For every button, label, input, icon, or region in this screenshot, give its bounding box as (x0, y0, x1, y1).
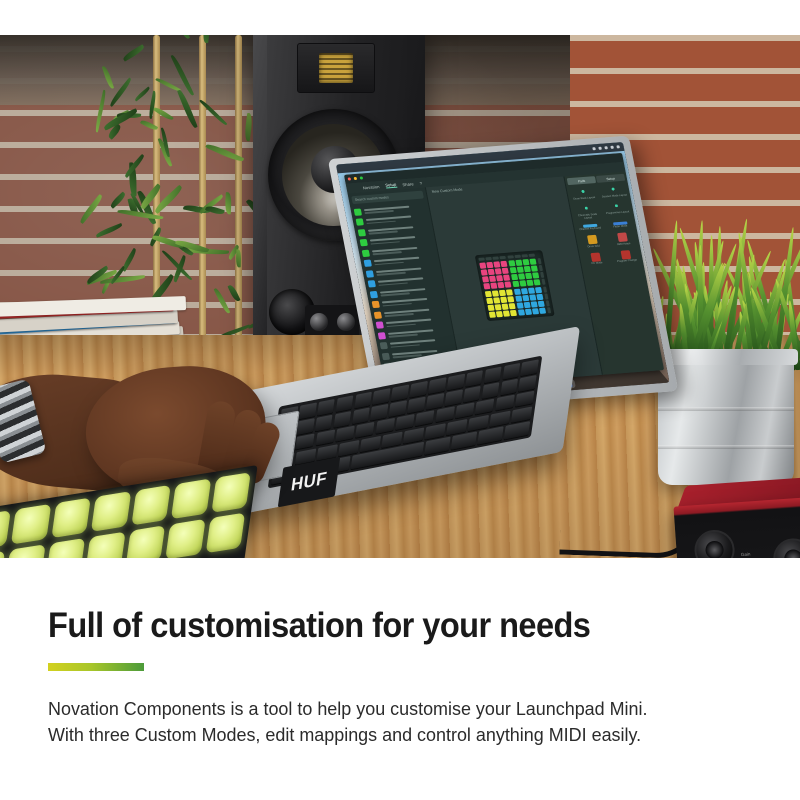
mode-option-label: Fader Mode (613, 226, 628, 230)
pad-cell-r7-c1[interactable] (496, 311, 503, 317)
pad-top-button-6[interactable] (521, 254, 528, 258)
mode-option-7[interactable]: MIDI Notes (608, 232, 638, 247)
mode-color-swatch (376, 322, 384, 329)
keyboard-key[interactable] (338, 440, 359, 457)
keyboard-key[interactable] (521, 359, 539, 375)
pad-cell-r3-c2[interactable] (498, 282, 505, 288)
pad-top-button-5[interactable] (514, 255, 521, 259)
pad-cell-r6-c7[interactable] (538, 301, 545, 307)
pad-cell-r4-c5[interactable] (521, 288, 528, 294)
keyboard-key[interactable] (395, 414, 415, 431)
mode-option-icon (581, 204, 592, 214)
pad-side-button-3[interactable] (541, 279, 546, 285)
mode-option-1[interactable]: Session Mode Layout (599, 184, 629, 199)
launchpad-mini-pad[interactable] (0, 510, 11, 551)
pad-cell-r1-c7[interactable] (531, 265, 538, 271)
pad-cell-r3-c5[interactable] (519, 281, 526, 287)
keyboard-key[interactable] (484, 366, 502, 382)
bamboo-leaf (109, 192, 127, 209)
pad-cell-r6-c2[interactable] (502, 303, 509, 309)
launchpad-mini-pad[interactable] (46, 538, 86, 558)
keyboard-key[interactable] (425, 423, 446, 440)
bamboo-leaf (95, 223, 122, 237)
mode-option-9[interactable]: Program Change (611, 249, 641, 264)
keyboard-key[interactable] (315, 414, 333, 430)
bamboo-leaf (102, 65, 115, 89)
mode-option-4[interactable]: Channel Keyboard (576, 223, 605, 232)
keyboard-key[interactable] (446, 419, 467, 436)
bamboo-leaf (178, 88, 198, 128)
pad-cell-r7-c3[interactable] (510, 310, 517, 316)
pad-cell-r1-c1[interactable] (488, 269, 495, 275)
pad-cell-r5-c7[interactable] (536, 294, 543, 300)
pad-top-button-4[interactable] (507, 255, 514, 259)
pad-cell-r0-c5[interactable] (515, 259, 522, 265)
mode-option-icon (590, 252, 601, 262)
mode-option-icon (621, 250, 632, 260)
mode-color-swatch (380, 342, 388, 349)
keyboard-key[interactable] (515, 390, 535, 407)
keyboard-key[interactable] (410, 381, 428, 397)
keyboard-key[interactable] (370, 404, 388, 420)
pad-cell-r2-c5[interactable] (518, 274, 525, 280)
pad-cell-r3-c3[interactable] (505, 282, 512, 288)
mode-option-icon (608, 184, 619, 194)
keyboard-key[interactable] (463, 386, 481, 402)
product-photo: Novation Setup Share ? Search custom mod… (0, 35, 800, 558)
nav-item-share[interactable]: Share (402, 181, 414, 187)
pad-cell-r1-c6[interactable] (524, 266, 531, 272)
pad-top-button-1[interactable] (485, 257, 492, 261)
keyboard-key[interactable] (519, 375, 537, 391)
keyboard-key[interactable] (315, 429, 335, 446)
feature-text-block: Full of customisation for your needs Nov… (0, 558, 800, 748)
pad-cell-r1-c0[interactable] (480, 269, 487, 275)
pad-cell-r6-c5[interactable] (523, 302, 530, 308)
mode-option-label: Session Mode Layout (602, 194, 628, 199)
pad-cell-r5-c5[interactable] (522, 295, 529, 301)
keyboard-key[interactable] (489, 410, 510, 427)
mode-option-icon (578, 187, 589, 197)
mode-option-icon (617, 233, 628, 243)
accent-divider-bar (48, 663, 144, 671)
nav-item-novation[interactable]: Novation (362, 184, 380, 190)
metal-plant-pot (658, 353, 794, 485)
pad-cell-r6-c4[interactable] (516, 302, 523, 308)
mode-option-3[interactable]: Programmer Layout (602, 201, 632, 219)
mode-color-swatch (356, 219, 364, 226)
keyboard-key[interactable] (502, 363, 520, 379)
mode-color-swatch (368, 280, 376, 287)
pad-cell-r5-c6[interactable] (529, 294, 536, 300)
gain-label: Gain (741, 551, 751, 557)
window-minimize-dot[interactable] (354, 177, 358, 180)
pad-cell-r4-c6[interactable] (528, 287, 535, 293)
pad-cell-r6-c3[interactable] (509, 303, 516, 309)
pad-side-button-1[interactable] (539, 265, 544, 271)
pad-cell-r3-c0[interactable] (483, 283, 490, 289)
keyboard-key[interactable] (465, 370, 483, 386)
pad-cell-r7-c5[interactable] (525, 309, 532, 315)
pad-cell-r2-c2[interactable] (496, 275, 503, 281)
bamboo-leaf (170, 54, 194, 97)
keyboard-key[interactable] (435, 406, 455, 423)
pad-grid-8x8[interactable] (479, 258, 546, 318)
pad-cell-r6-c0[interactable] (487, 305, 494, 311)
bamboo-leaf (178, 35, 190, 40)
bamboo-leaf (122, 44, 145, 61)
product-feature-card: Novation Setup Share ? Search custom mod… (0, 0, 800, 800)
tab-setup[interactable]: Setup (596, 174, 625, 183)
launchpad-mini-pad[interactable] (131, 485, 171, 526)
launchpad-mini-pad[interactable] (211, 472, 251, 513)
feature-description: Novation Components is a tool to help yo… (48, 696, 688, 748)
bamboo-leaf (103, 108, 140, 131)
pad-side-button-0[interactable] (537, 258, 542, 264)
keyboard-key[interactable] (298, 403, 316, 419)
xlr-input-2[interactable] (772, 537, 800, 558)
mode-option-label: MIDI Notes (617, 243, 631, 247)
keyboard-key[interactable] (428, 377, 446, 393)
window-close-dot[interactable] (348, 177, 352, 180)
pad-side-button-7[interactable] (547, 307, 552, 313)
pad-cell-r5-c2[interactable] (500, 296, 507, 302)
bamboo-leaf (243, 113, 253, 142)
mode-option-grid[interactable]: Drum Rack LayoutSession Mode LayoutChrom… (569, 184, 642, 267)
pad-cell-r5-c1[interactable] (493, 297, 500, 303)
launchpad-mini-pad[interactable] (91, 491, 131, 532)
keyboard-key[interactable] (375, 418, 395, 435)
keyboard-key[interactable] (447, 374, 465, 390)
keyboard-key[interactable] (389, 400, 407, 416)
mode-color-swatch (382, 353, 390, 360)
keyboard-key[interactable] (295, 433, 315, 450)
keyboard-key[interactable] (500, 378, 518, 394)
launchpad-mini-pad[interactable] (85, 532, 125, 558)
mode-color-swatch (374, 311, 382, 318)
keyboard-key[interactable] (511, 406, 532, 423)
keyboard-key[interactable] (444, 389, 462, 405)
pad-cell-r0-c4[interactable] (508, 260, 515, 266)
mode-color-swatch (366, 270, 374, 277)
keyboard-key[interactable] (455, 402, 475, 419)
page-title: Full of customisation for your needs (48, 606, 747, 646)
pad-cell-r2-c3[interactable] (503, 275, 510, 281)
keyboard-key[interactable] (335, 395, 353, 411)
pad-cell-r0-c2[interactable] (493, 261, 500, 267)
mode-option-5[interactable]: Fader Mode (606, 221, 635, 230)
keyboard-key[interactable] (391, 384, 409, 400)
pad-cell-r7-c4[interactable] (518, 309, 525, 315)
pad-cell-r1-c2[interactable] (495, 268, 502, 274)
keyboard-key[interactable] (415, 410, 435, 427)
mode-option-label: Drum Rack Layout (573, 197, 595, 202)
keyboard-key[interactable] (354, 392, 372, 408)
pad-cell-r4-c4[interactable] (513, 288, 520, 294)
launchpad-mini-pad[interactable] (0, 550, 6, 558)
mode-option-label: Drum Grid (588, 245, 601, 249)
keyboard-key[interactable] (296, 418, 314, 434)
pad-cell-r2-c4[interactable] (511, 274, 518, 280)
pad-side-button-6[interactable] (545, 300, 550, 306)
keyboard-key[interactable] (355, 421, 375, 438)
pad-cell-r3-c7[interactable] (534, 279, 541, 285)
tab-pads[interactable]: Pads (567, 176, 596, 185)
mode-option-icon (587, 235, 598, 245)
keyboard-key[interactable] (381, 431, 402, 448)
pad-top-button-2[interactable] (493, 256, 500, 260)
keyboard-key[interactable] (424, 437, 450, 455)
pad-side-button-2[interactable] (540, 272, 545, 278)
keyboard-key[interactable] (495, 394, 515, 411)
keyboard-key[interactable] (352, 407, 370, 423)
mode-option-8[interactable]: CC Mode (581, 252, 611, 267)
launchpad-mini-pad[interactable] (165, 519, 205, 558)
mode-option-2[interactable]: Chromatic Scale Layout (572, 203, 602, 221)
keyboard-key[interactable] (407, 396, 425, 412)
pad-top-button-0[interactable] (478, 257, 485, 261)
mode-option-0[interactable]: Drum Rack Layout (569, 186, 599, 201)
pad-cell-r2-c0[interactable] (482, 276, 489, 282)
pad-cell-r2-c6[interactable] (525, 273, 532, 279)
mode-color-swatch (360, 239, 368, 246)
nav-item-setup[interactable]: Setup (385, 182, 397, 189)
pad-cell-r4-c0[interactable] (485, 291, 492, 297)
bamboo-leaf (133, 87, 150, 102)
pad-cell-r3-c4[interactable] (512, 281, 519, 287)
keyboard-key[interactable] (451, 432, 477, 450)
mode-color-swatch (362, 249, 370, 256)
mode-option-label: Channel Keyboard (579, 228, 601, 233)
launchpad-mini-pad[interactable] (51, 497, 91, 538)
mode-color-swatch (354, 208, 362, 215)
pad-cell-r4-c7[interactable] (535, 287, 542, 293)
launchpad-mini-pad[interactable] (125, 525, 165, 558)
pad-cell-r0-c1[interactable] (486, 262, 493, 268)
mode-color-swatch (372, 301, 380, 308)
mode-option-label: Chromatic Scale Layout (574, 213, 602, 221)
mode-option-label: Program Change (617, 260, 637, 264)
pad-cell-r7-c2[interactable] (503, 311, 510, 317)
pad-cell-r0-c6[interactable] (522, 259, 529, 265)
mode-option-label: Programmer Layout (606, 211, 630, 216)
pad-cell-r5-c0[interactable] (486, 298, 493, 304)
pad-cell-r4-c1[interactable] (492, 290, 499, 296)
pad-side-button-5[interactable] (544, 293, 549, 299)
pad-cell-r0-c0[interactable] (479, 262, 486, 268)
mode-color-swatch (370, 291, 378, 298)
launchpad-mini-pad[interactable] (205, 513, 245, 554)
pad-cell-r3-c1[interactable] (490, 283, 497, 289)
pad-cell-r6-c1[interactable] (495, 304, 502, 310)
pad-cell-r0-c3[interactable] (501, 261, 508, 267)
mode-color-swatch (378, 332, 386, 339)
keyboard-key[interactable] (333, 411, 351, 427)
pad-top-button-7[interactable] (529, 253, 536, 257)
pad-cell-r5-c3[interactable] (508, 296, 515, 302)
pad-cell-r7-c7[interactable] (539, 308, 546, 314)
keyboard-key[interactable] (360, 435, 381, 452)
mode-option-6[interactable]: Drum Grid (578, 234, 608, 249)
keyboard-key[interactable] (481, 382, 499, 398)
pad-cell-r1-c4[interactable] (509, 267, 516, 273)
mode-color-swatch (364, 260, 372, 267)
launchpad-pad-editor[interactable] (475, 250, 555, 321)
pad-cell-r7-c6[interactable] (532, 308, 539, 314)
keyboard-key[interactable] (504, 421, 530, 439)
launchpad-mini-pad[interactable] (171, 478, 211, 519)
keyboard-key[interactable] (475, 398, 495, 415)
mode-option-icon (611, 201, 622, 211)
keyboard-key[interactable] (403, 427, 424, 444)
pad-cell-r1-c3[interactable] (502, 268, 509, 274)
launchpad-mini-pad[interactable] (11, 504, 51, 545)
focusrite-scarlett-interface: Scarlett Gain INST AIR PAD (672, 474, 800, 558)
mode-color-swatch (358, 229, 366, 236)
keyboard-key[interactable] (335, 425, 355, 442)
pad-top-button-3[interactable] (500, 256, 507, 260)
keyboard-key[interactable] (468, 414, 489, 431)
ribbon-tweeter (297, 43, 375, 93)
keyboard-key[interactable] (317, 399, 335, 415)
keyboard-key[interactable] (477, 427, 503, 445)
mode-option-label: CC Mode (591, 263, 603, 267)
pad-cell-r0-c7[interactable] (530, 258, 537, 264)
pad-cell-r3-c6[interactable] (526, 280, 533, 286)
pad-cell-r4-c2[interactable] (499, 289, 506, 295)
keyboard-key[interactable] (372, 388, 390, 404)
keyboard-key[interactable] (426, 393, 444, 409)
pad-side-button-4[interactable] (543, 286, 548, 292)
pad-cell-r4-c3[interactable] (506, 289, 513, 295)
xlr-input-1[interactable] (693, 529, 736, 558)
pad-cell-r5-c4[interactable] (515, 295, 522, 301)
pad-cell-r7-c0[interactable] (489, 312, 496, 318)
nav-item-help[interactable]: ? (419, 180, 422, 185)
pad-cell-r6-c6[interactable] (531, 301, 538, 307)
pad-cell-r2-c7[interactable] (532, 272, 539, 278)
pad-cell-r1-c5[interactable] (516, 267, 523, 273)
launchpad-mini-pad[interactable] (6, 544, 46, 558)
window-zoom-dot[interactable] (360, 176, 364, 179)
pad-cell-r2-c1[interactable] (489, 276, 496, 282)
